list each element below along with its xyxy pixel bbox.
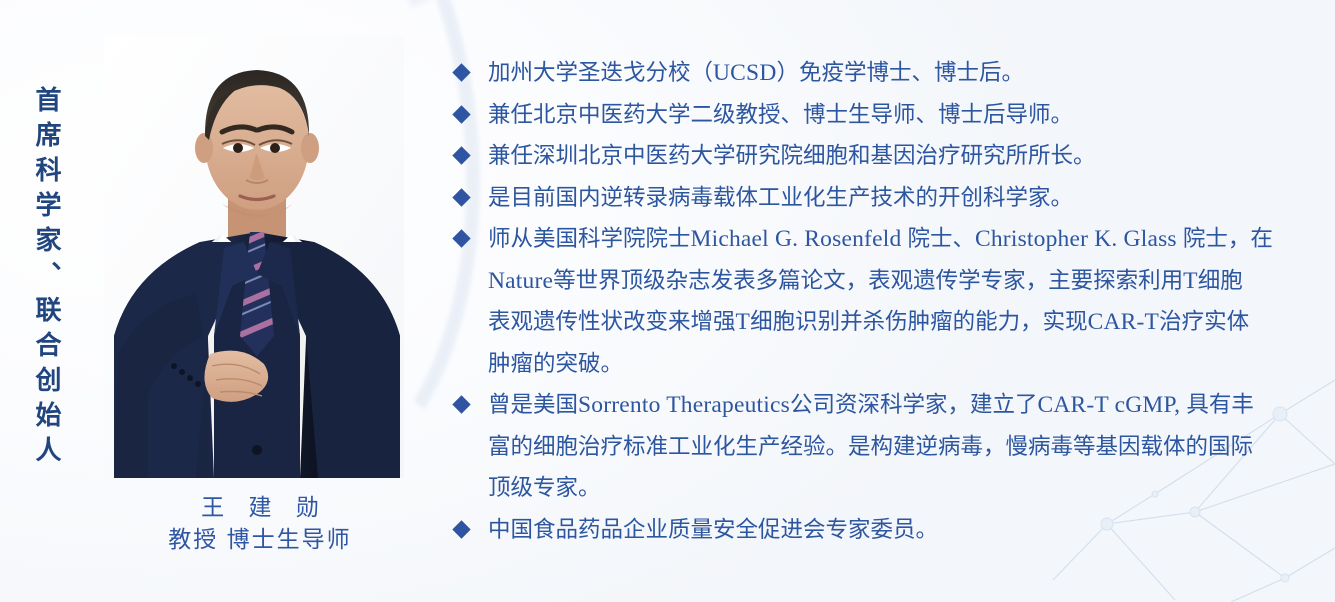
bullet-continuation-line: 表观遗传性状改变来增强T细胞识别并杀伤肿瘤的能力，实现CAR-T治疗实体 xyxy=(455,301,1295,343)
diamond-bullet-icon xyxy=(452,520,470,538)
text-segment-latin: Christopher K. Glass xyxy=(975,226,1183,252)
bullet-text: 肿瘤的突破。 xyxy=(488,343,623,385)
text-segment-cjk: 细胞识别并杀伤肿瘤的能力，实现 xyxy=(750,309,1088,334)
bullet-item: 中国食品药品企业质量安全促进会专家委员。 xyxy=(455,509,1295,551)
text-segment-cjk: 等世界顶级杂志发表多篇论文，表观遗传学专家，主要探索利用 xyxy=(553,268,1183,293)
bullet-text: 曾是美国Sorrento Therapeutics公司资深科学家，建立了CAR-… xyxy=(488,384,1254,427)
text-segment-latin: Nature xyxy=(488,268,553,294)
text-segment-cjk: 院士，在 xyxy=(1183,226,1273,251)
bullet-item: 是目前国内逆转录病毒载体工业化生产技术的开创科学家。 xyxy=(455,177,1295,219)
bullet-continuation-line: 肿瘤的突破。 xyxy=(455,343,1295,385)
text-segment-cjk: 师从美国科学院院士 xyxy=(488,226,691,251)
text-segment-cjk: 兼任北京中医药大学二级教授、博士生导师、博士后导师。 xyxy=(488,102,1073,127)
portrait-photo xyxy=(104,36,404,478)
diamond-bullet-icon xyxy=(452,188,470,206)
diamond-bullet-icon xyxy=(452,146,470,164)
text-segment-latin: Michael G. Rosenfeld xyxy=(691,226,908,252)
portrait-caption: 王 建 勋 教授 博士生导师 xyxy=(60,492,460,556)
bullet-text: 加州大学圣迭戈分校（UCSD）免疫学博士、博士后。 xyxy=(488,52,1024,95)
bullet-text: 表观遗传性状改变来增强T细胞识别并杀伤肿瘤的能力，实现CAR-T治疗实体 xyxy=(488,301,1249,344)
bullet-text: 顶级专家。 xyxy=(488,467,601,509)
person-role: 教授 博士生导师 xyxy=(60,522,460,556)
text-segment-cjk: 中国食品药品企业质量安全促进会专家委员。 xyxy=(488,517,938,542)
profile-slide: 首席科学家、联合创始人 xyxy=(0,0,1335,602)
text-segment-cjk: 是目前国内逆转录病毒载体工业化生产技术的开创科学家。 xyxy=(488,185,1073,210)
text-segment-latin: CAR-T xyxy=(1088,309,1160,335)
text-segment-cjk: 肿瘤的突破。 xyxy=(488,351,623,376)
text-segment-cjk: 院士、 xyxy=(907,226,975,251)
text-segment-cjk: 治疗实体 xyxy=(1159,309,1249,334)
bullet-item: 兼任北京中医药大学二级教授、博士生导师、博士后导师。 xyxy=(455,94,1295,136)
text-segment-cjk: 曾是美国 xyxy=(488,392,578,417)
text-segment-cjk: 兼任深圳北京中医药大学研究院细胞和基因治疗研究所所长。 xyxy=(488,143,1096,168)
text-segment-latin: T xyxy=(736,309,751,335)
bullet-item: 曾是美国Sorrento Therapeutics公司资深科学家，建立了CAR-… xyxy=(455,384,1295,426)
text-segment-cjk: 具有丰 xyxy=(1186,392,1254,417)
bullet-continuation-line: 顶级专家。 xyxy=(455,467,1295,509)
bullet-item: 加州大学圣迭戈分校（UCSD）免疫学博士、博士后。 xyxy=(455,52,1295,94)
bullet-item: 兼任深圳北京中医药大学研究院细胞和基因治疗研究所所长。 xyxy=(455,135,1295,177)
bullet-text: 兼任北京中医药大学二级教授、博士生导师、博士后导师。 xyxy=(488,94,1073,136)
text-segment-cjk: 加州大学圣迭戈分校（ xyxy=(488,60,713,85)
person-name: 王 建 勋 xyxy=(60,492,460,522)
bullet-continuation-line: 富的细胞治疗标准工业化生产经验。是构建逆病毒，慢病毒等基因载体的国际 xyxy=(455,426,1295,468)
diamond-bullet-icon xyxy=(452,63,470,81)
text-segment-latin: UCSD xyxy=(713,60,777,86)
bio-bullet-list: 加州大学圣迭戈分校（UCSD）免疫学博士、博士后。兼任北京中医药大学二级教授、博… xyxy=(455,52,1295,550)
diamond-bullet-icon xyxy=(452,395,470,413)
text-segment-cjk: 富的细胞治疗标准工业化生产经验。是构建逆病毒，慢病毒等基因载体的国际 xyxy=(488,434,1253,459)
bullet-continuation-line: Nature等世界顶级杂志发表多篇论文，表观遗传学专家，主要探索利用T细胞 xyxy=(455,260,1295,302)
diamond-bullet-icon xyxy=(452,229,470,247)
text-segment-latin: Sorrento Therapeutics xyxy=(578,392,790,418)
text-segment-latin: T xyxy=(1183,268,1198,294)
bullet-text: 中国食品药品企业质量安全促进会专家委员。 xyxy=(488,509,938,551)
bullet-text: Nature等世界顶级杂志发表多篇论文，表观遗传学专家，主要探索利用T细胞 xyxy=(488,260,1243,303)
diamond-bullet-icon xyxy=(452,105,470,123)
bullet-text: 富的细胞治疗标准工业化生产经验。是构建逆病毒，慢病毒等基因载体的国际 xyxy=(488,426,1253,468)
bullet-item: 师从美国科学院院士Michael G. Rosenfeld 院士、Christo… xyxy=(455,218,1295,260)
text-segment-cjk: ）免疫学博士、博士后。 xyxy=(777,60,1025,85)
bullet-text: 师从美国科学院院士Michael G. Rosenfeld 院士、Christo… xyxy=(488,218,1273,261)
text-segment-cjk: 表观遗传性状改变来增强 xyxy=(488,309,736,334)
page-title: 首席科学家、联合创始人 xyxy=(18,86,60,471)
bullet-text: 兼任深圳北京中医药大学研究院细胞和基因治疗研究所所长。 xyxy=(488,135,1096,177)
text-segment-cjk: 顶级专家。 xyxy=(488,475,601,500)
text-segment-cjk: 公司资深科学家，建立了 xyxy=(790,392,1038,417)
bullet-text: 是目前国内逆转录病毒载体工业化生产技术的开创科学家。 xyxy=(488,177,1073,219)
text-segment-latin: CAR-T cGMP, xyxy=(1037,392,1186,418)
text-segment-cjk: 细胞 xyxy=(1198,268,1243,293)
